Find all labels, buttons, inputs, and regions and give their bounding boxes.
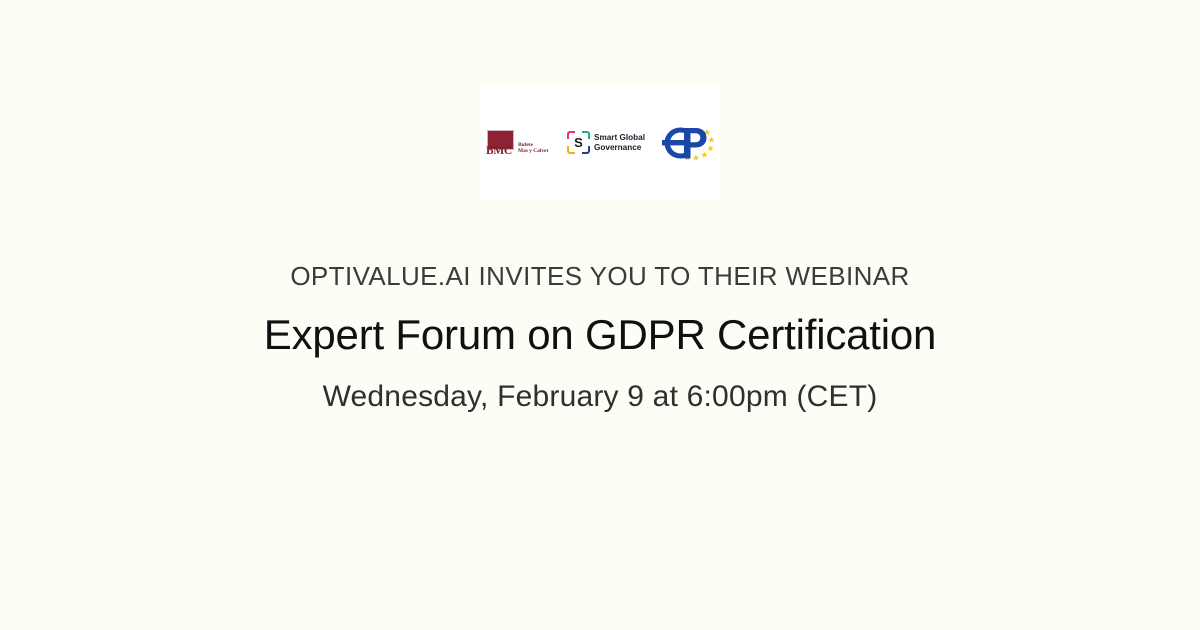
page-title: Expert Forum on GDPR Certification	[0, 309, 1200, 361]
ep-logo	[662, 124, 714, 162]
sgg-letter-s: S	[567, 131, 590, 154]
smart-global-governance-logo: S Smart Global Governance	[567, 131, 645, 154]
sgg-wordmark: Smart Global Governance	[594, 133, 645, 152]
bmc-wordmark-line2: Mas y Calvet	[518, 148, 548, 154]
eyebrow-text: OPTIVALUE.AI INVITES YOU TO THEIR WEBINA…	[0, 260, 1200, 292]
invitation-content: OPTIVALUE.AI INVITES YOU TO THEIR WEBINA…	[0, 200, 1200, 416]
sgg-wordmark-line1: Smart Global	[594, 133, 645, 142]
sgg-wordmark-line2: Governance	[594, 143, 641, 152]
bmc-square-mark: BMC	[486, 130, 517, 156]
logo-strip: BMC Bufete Mas y Calvet S Smart Global G…	[480, 85, 720, 200]
event-datetime: Wednesday, February 9 at 6:00pm (CET)	[0, 378, 1200, 416]
ep-monogram-stars-icon	[662, 124, 714, 162]
ep-letters	[662, 127, 707, 158]
bmc-wordmark: Bufete Mas y Calvet	[518, 143, 548, 155]
bmc-logo: BMC Bufete Mas y Calvet	[486, 130, 550, 156]
bracket-s-mark: S	[567, 131, 590, 154]
bmc-abbreviation: BMC	[486, 146, 518, 157]
partner-logo-banner: BMC Bufete Mas y Calvet S Smart Global G…	[480, 85, 720, 200]
